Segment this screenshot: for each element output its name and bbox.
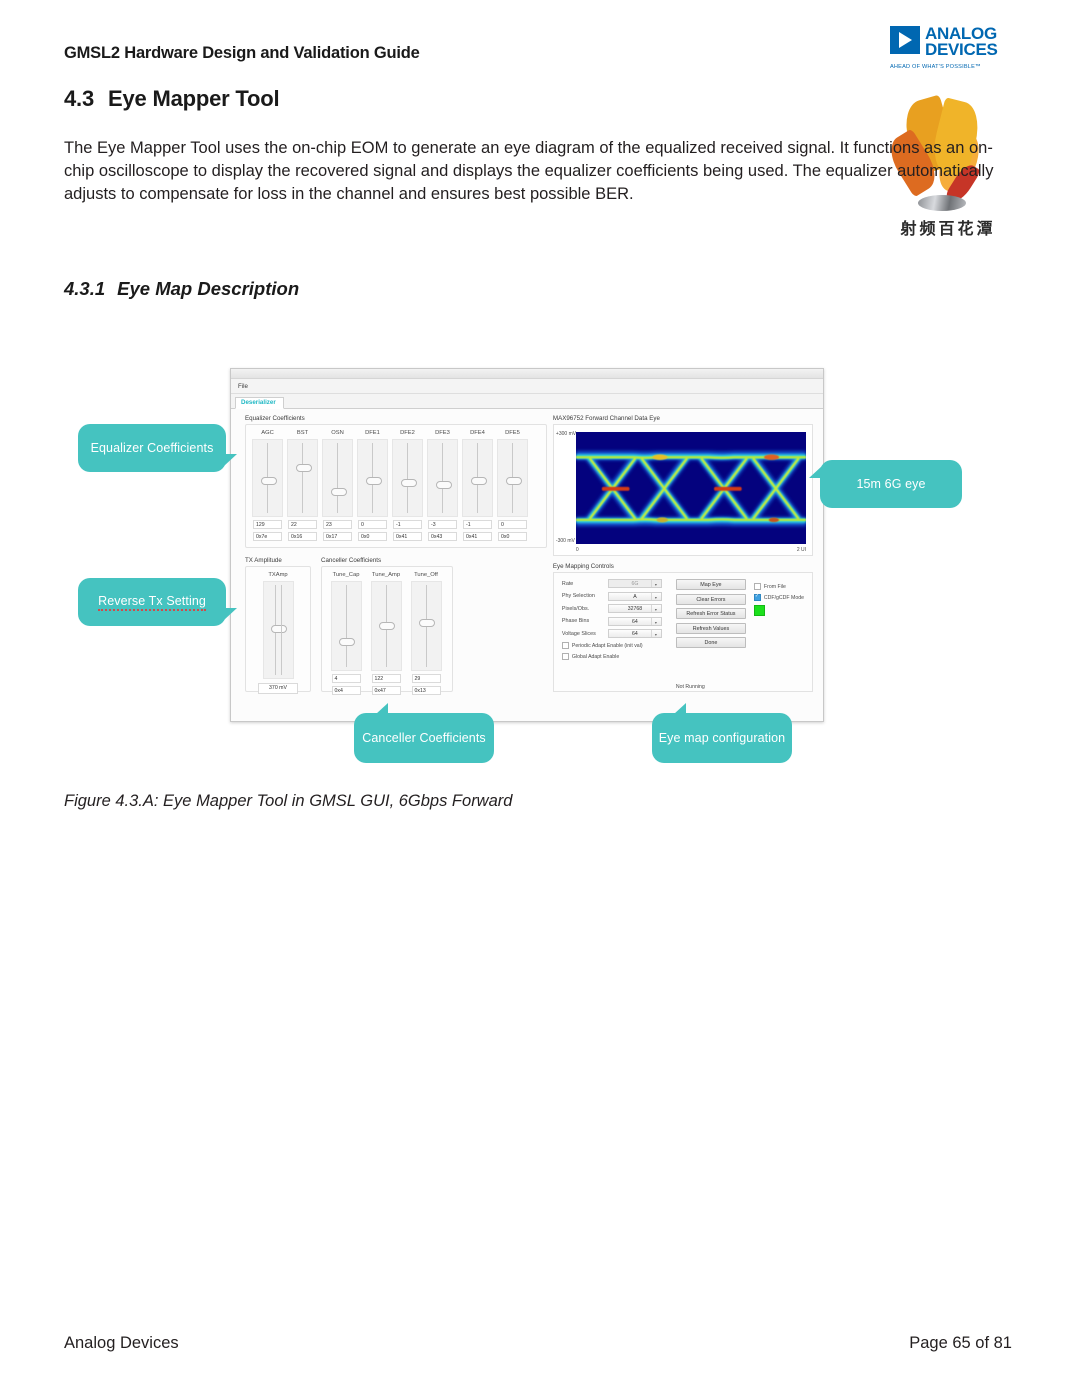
slider-track[interactable] [357,439,388,517]
canceller-slider-row: Tune_Cap 4 0x4 Tune_Amp 122 0x47 [322,567,452,701]
logo-line-2: DEVICES [925,42,998,58]
left-pane: Equalizer Coefficients AGC 129 0x7e BST [231,409,547,722]
slider-tune-off[interactable]: Tune_Off 29 0x13 [408,572,444,695]
slider-hex-value[interactable]: 0x0 [358,532,387,541]
callout-tail [376,703,388,714]
checkbox-periodic-adapt-enable[interactable]: Periodic Adapt Enable (init val) [562,642,668,649]
slider-thumb[interactable] [296,464,312,472]
section-number: 4.3 [64,86,94,111]
gui-content: Equalizer Coefficients AGC 129 0x7e BST [231,409,823,722]
subsection-title: Eye Map Description [117,278,299,299]
eye-axis-y-top-label: +300 mV [556,431,576,437]
checkbox-label: CDF/gCDF Mode [764,595,804,601]
field-pixels-obs: Pixels/Obs. 32768▾ [562,604,668,613]
slider-thumb[interactable] [436,481,452,489]
document-title: GMSL2 Hardware Design and Validation Gui… [64,44,420,63]
callout-canceller-coefficients: Canceller Coefficients [354,713,494,763]
eye-axis-x-right-label: 2 UI [797,547,806,553]
slider-label: DFE4 [470,430,485,436]
select-value: 64 [632,631,638,637]
slider-track[interactable] [392,439,423,517]
callout-15m-6g-eye: 15m 6G eye [820,460,962,508]
slider-hex-value[interactable]: 0x0 [498,532,527,541]
slider-thumb[interactable] [331,488,347,496]
eye-diagram-canvas [576,432,806,544]
slider-tune-amp[interactable]: Tune_Amp 122 0x47 [368,572,404,695]
logo-tagline: AHEAD OF WHAT'S POSSIBLE™ [890,64,1014,70]
slider-value[interactable]: 29 [412,674,441,683]
run-status-text: Not Running [676,684,746,690]
slider-thumb[interactable] [271,625,287,633]
section-body-paragraph: The Eye Mapper Tool uses the on-chip EOM… [64,137,996,206]
slider-label: AGC [261,430,274,436]
rate-select[interactable]: 6G▾ [608,579,662,588]
callout-tail [224,608,237,620]
slider-value[interactable]: 23 [323,520,352,529]
slider-thumb[interactable] [366,477,382,485]
slider-value[interactable]: 4 [332,674,361,683]
watermark-chinese-text: 射频百花潭 [888,215,1008,239]
figure-caption: Figure 4.3.A: Eye Mapper Tool in GMSL GU… [64,792,512,811]
tab-bar: Deserializer [231,394,823,409]
tx-amplitude-value[interactable]: 370 mV [258,683,298,694]
checkbox-icon[interactable] [562,653,569,660]
checkbox-global-adapt-enable[interactable]: Global Adapt Enable [562,653,668,660]
menu-bar: File [231,379,823,394]
callout-reverse-tx-setting: Reverse Tx Setting [78,578,226,626]
slider-thumb[interactable] [471,477,487,485]
slider-dfe4[interactable]: DFE4 -1 0x41 [462,430,493,541]
checkbox-label: Periodic Adapt Enable (init val) [572,643,643,649]
chevron-down-icon[interactable]: ▾ [651,618,660,625]
checkbox-label: From File [764,584,786,590]
slider-track[interactable] [252,439,283,517]
slider-label: DFE5 [505,430,520,436]
lower-left-groups: TX Amplitude TXAmp 370 mV Canceller Coef… [245,557,547,692]
slider-track[interactable] [462,439,493,517]
slider-value[interactable]: 0 [358,520,387,529]
footer-company: Analog Devices [64,1334,179,1353]
slider-label: TXAmp [268,572,287,578]
slider-hex-value[interactable]: 0x17 [323,532,352,541]
map-eye-button[interactable]: Map Eye [676,579,746,590]
slider-thumb[interactable] [339,638,355,646]
checkbox-icon[interactable] [562,642,569,649]
checkbox-cdf-gcdf-mode[interactable]: CDF/gCDF Mode [754,594,804,601]
slider-label: Tune_Cap [333,572,360,578]
slider-track[interactable] [331,581,362,671]
field-rate: Rate 6G▾ [562,579,668,588]
chevron-down-icon[interactable]: ▾ [651,630,660,637]
slider-dfe2[interactable]: DFE2 -1 0x41 [392,430,423,541]
tx-amplitude-group: TX Amplitude TXAmp 370 mV [245,557,311,692]
select-value: A [633,594,636,600]
subsection-number: 4.3.1 [64,278,105,299]
eye-diagram-svg [576,432,806,544]
analog-devices-logo: ANALOG DEVICES AHEAD OF WHAT'S POSSIBLE™ [890,26,1014,70]
eye-axis-y-bottom-label: -300 mV [556,538,575,544]
slider-hex-value[interactable]: 0x43 [428,532,457,541]
canceller-group-label: Canceller Coefficients [321,557,453,564]
phase-bins-select[interactable]: 64▾ [608,617,662,626]
callout-label: Eye map configuration [659,731,785,745]
clear-errors-button[interactable]: Clear Errors [676,594,746,605]
slider-label: Tune_Amp [372,572,400,578]
status-led-indicator [754,605,765,616]
canceller-coefficients-panel: Tune_Cap 4 0x4 Tune_Amp 122 0x47 [321,566,453,692]
slider-value[interactable]: 22 [288,520,317,529]
slider-tune-cap[interactable]: Tune_Cap 4 0x4 [328,572,364,695]
slider-hex-value[interactable]: 0x13 [412,686,441,695]
slider-thumb[interactable] [419,619,435,627]
slider-label: Tune_Off [414,572,438,578]
select-value: 64 [632,619,638,625]
callout-eye-map-configuration: Eye map configuration [652,713,792,763]
slider-hex-value[interactable]: 0x16 [288,532,317,541]
slider-thumb[interactable] [401,479,417,487]
callout-equalizer-coefficients: Equalizer Coefficients [78,424,226,472]
figure-eye-mapper-tool: File Deserializer Equalizer Coefficients… [72,360,1002,772]
phy-selection-select[interactable]: A▾ [608,592,662,601]
chevron-down-icon[interactable]: ▾ [651,580,660,587]
slider-label: DFE2 [400,430,415,436]
field-label: Phy Selection [562,593,608,599]
slider-osn[interactable]: OSN 23 0x17 [322,430,353,541]
field-phase-bins: Phase Bins 64▾ [562,617,668,626]
slider-track[interactable] [263,581,294,679]
menu-item-file[interactable]: File [238,383,248,390]
eye-diagram-frame: +300 mV -300 mV 0 2 UI [553,424,813,556]
eye-axis-x-left-label: 0 [576,547,579,553]
slider-label: BST [297,430,308,436]
checkbox-icon[interactable] [754,594,761,601]
slider-track[interactable] [427,439,458,517]
gmsl-gui-window: File Deserializer Equalizer Coefficients… [230,368,824,722]
slider-track[interactable] [322,439,353,517]
subsection-heading: 4.3.1Eye Map Description [64,278,299,300]
slider-label: OSN [331,430,344,436]
window-titlebar [231,369,823,379]
select-value: 6G [631,581,638,587]
slider-thumb[interactable] [261,477,277,485]
slider-hex-value[interactable]: 0x4 [332,686,361,695]
analog-devices-triangle-icon [890,26,920,54]
eye-mapping-controls-panel: Rate 6G▾ Phy Selection A▾ Pixels/Obs. 32… [553,572,813,692]
eye-controls-buttons-column: Map Eye Clear Errors Refresh Error Statu… [676,579,746,684]
tab-deserializer[interactable]: Deserializer [235,397,284,409]
slider-hex-value[interactable]: 0x7e [253,532,282,541]
equalizer-group-label: Equalizer Coefficients [245,415,547,422]
refresh-error-status-button[interactable]: Refresh Error Status [676,608,746,619]
tx-amplitude-group-label: TX Amplitude [245,557,311,564]
slider-track[interactable] [411,581,442,671]
field-label: Pixels/Obs. [562,606,608,612]
slider-dfe1[interactable]: DFE1 0 0x0 [357,430,388,541]
slider-label: DFE3 [435,430,450,436]
chevron-down-icon[interactable]: ▾ [651,593,660,600]
slider-hex-value[interactable]: 0x41 [463,532,492,541]
field-label: Phase Bins [562,618,608,624]
equalizer-slider-row: AGC 129 0x7e BST 22 0x16 OSN [246,425,546,547]
slider-txamp[interactable]: TXAmp 370 mV [252,572,304,694]
slider-hex-value[interactable]: 0x47 [372,686,401,695]
eye-controls-fields-column: Rate 6G▾ Phy Selection A▾ Pixels/Obs. 32… [562,579,668,684]
field-voltage-slices: Voltage Slices 64▾ [562,629,668,638]
eye-controls-group-label: Eye Mapping Controls [553,563,813,570]
slider-value[interactable]: 122 [372,674,401,683]
pixels-obs-select[interactable]: 32768▾ [608,604,662,613]
slider-value[interactable]: 0 [498,520,527,529]
callout-tail [674,703,686,714]
slider-value[interactable]: -3 [428,520,457,529]
field-label: Voltage Slices [562,631,608,637]
section-title: Eye Mapper Tool [108,86,279,111]
slider-hex-value[interactable]: 0x41 [393,532,422,541]
select-value: 32768 [628,606,642,612]
callout-label: Reverse Tx Setting [98,594,206,611]
tx-amplitude-panel: TXAmp 370 mV [245,566,311,692]
slider-dfe5[interactable]: DFE5 0 0x0 [497,430,528,541]
document-header: GMSL2 Hardware Design and Validation Gui… [64,44,1014,63]
right-pane: MAX96752 Forward Channel Data Eye +300 m… [547,409,823,722]
footer-page-number: Page 65 of 81 [909,1334,1012,1353]
slider-value[interactable]: -1 [463,520,492,529]
slider-value[interactable]: -1 [393,520,422,529]
slider-bst[interactable]: BST 22 0x16 [287,430,318,541]
slider-value[interactable]: 129 [253,520,282,529]
eye-controls-options-column: From File CDF/gCDF Mode [754,579,804,684]
callout-label: Equalizer Coefficients [91,441,214,455]
checkbox-icon[interactable] [754,583,761,590]
canceller-group: Canceller Coefficients Tune_Cap 4 0x4 [321,557,453,692]
checkbox-from-file[interactable]: From File [754,583,804,590]
slider-thumb[interactable] [379,622,395,630]
done-button[interactable]: Done [676,637,746,648]
slider-track[interactable] [497,439,528,517]
eye-plot-title: MAX96752 Forward Channel Data Eye [553,415,813,422]
callout-label: Canceller Coefficients [362,731,486,745]
slider-agc[interactable]: AGC 129 0x7e [252,430,283,541]
section-heading: 4.3Eye Mapper Tool [64,86,279,112]
callout-tail [224,454,237,466]
voltage-slices-select[interactable]: 64▾ [608,629,662,638]
equalizer-coefficients-panel: AGC 129 0x7e BST 22 0x16 OSN [245,424,547,548]
slider-dfe3[interactable]: DFE3 -3 0x43 [427,430,458,541]
field-label: Rate [562,581,608,587]
slider-label: DFE1 [365,430,380,436]
chevron-down-icon[interactable]: ▾ [651,605,660,612]
slider-track[interactable] [371,581,402,671]
field-phy-selection: Phy Selection A▾ [562,592,668,601]
refresh-values-button[interactable]: Refresh Values [676,623,746,634]
callout-label: 15m 6G eye [856,477,925,491]
checkbox-label: Global Adapt Enable [572,654,619,660]
slider-thumb[interactable] [506,477,522,485]
callout-tail [809,466,822,478]
slider-track[interactable] [287,439,318,517]
